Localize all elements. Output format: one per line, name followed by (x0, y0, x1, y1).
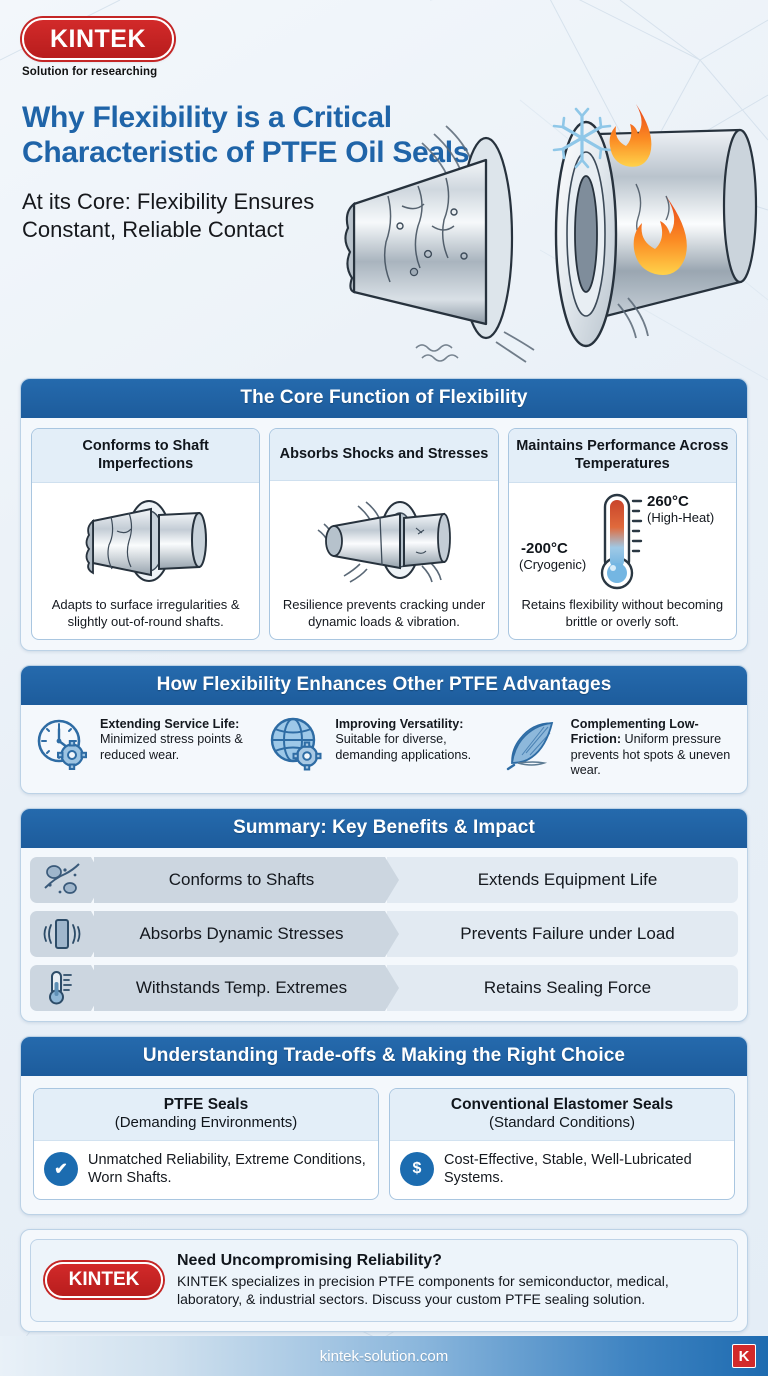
summary-section: Summary: Key Benefits & Impact Conforms … (20, 808, 748, 1022)
summary-impact: Prevents Failure under Load (387, 911, 738, 957)
infographic-page: KINTEK Solution for researching Why Flex… (0, 0, 768, 1376)
advantage-body: Suitable for diverse, demanding applicat… (335, 732, 471, 761)
hero-shaft-seal-illustration (336, 86, 766, 386)
advantage-text: Complementing Low-Friction: Uniform pres… (571, 715, 735, 779)
advantage-lead: Improving Versatility: (335, 717, 463, 731)
vibration-damper-icon (30, 911, 104, 957)
core-function-section: The Core Function of Flexibility Conform… (20, 378, 748, 651)
tradeoffs-heading: Understanding Trade-offs & Making the Ri… (21, 1037, 747, 1076)
advantages-section: How Flexibility Enhances Other PTFE Adva… (20, 665, 748, 794)
core-card: Maintains Performance Across Temperature… (508, 428, 737, 640)
tradeoff-description: Unmatched Reliability, Extreme Condition… (88, 1151, 368, 1187)
summary-benefit: Absorbs Dynamic Stresses (94, 911, 399, 957)
summary-impact: Extends Equipment Life (387, 857, 738, 903)
clock-gear-icon (33, 715, 93, 775)
advantage-item: Extending Service Life: Minimized stress… (33, 715, 264, 779)
core-function-heading: The Core Function of Flexibility (21, 379, 747, 418)
logo-tagline: Solution for researching (22, 66, 192, 78)
tradeoff-title: PTFE Seals (40, 1096, 372, 1114)
cta-section: KINTEK Need Uncompromising Reliability? … (20, 1229, 748, 1331)
tradeoff-description: Cost-Effective, Stable, Well-Lubricated … (444, 1151, 724, 1187)
tradeoff-subtitle: (Demanding Environments) (40, 1114, 372, 1132)
advantage-item: Improving Versatility: Suitable for dive… (268, 715, 499, 779)
core-card-title: Absorbs Shocks and Stresses (270, 429, 497, 481)
check-icon: ✔ (44, 1152, 78, 1186)
tradeoff-card-ptfe: PTFE Seals (Demanding Environments) ✔ Un… (33, 1088, 379, 1200)
summary-impact: Retains Sealing Force (387, 965, 738, 1011)
page-subtitle: At its Core: Flexibility Ensures Constan… (22, 188, 352, 243)
vibrating-shaft-seal-icon (270, 481, 497, 595)
thermometer-icon: 260°C (High-Heat) -200°C (Cryogenic) (509, 483, 736, 595)
tradeoff-card-header: PTFE Seals (Demanding Environments) (34, 1089, 378, 1141)
core-card: Conforms to Shaft Imperfections (31, 428, 260, 640)
summary-benefit: Conforms to Shafts (94, 857, 399, 903)
temp-low-note: (Cryogenic) (519, 557, 586, 572)
page-header: KINTEK Solution for researching Why Flex… (0, 0, 768, 378)
advantage-text: Improving Versatility: Suitable for dive… (335, 715, 499, 763)
advantage-lead: Extending Service Life: (100, 717, 239, 731)
temp-low-value: -200°C (521, 540, 568, 557)
summary-row: Withstands Temp. Extremes Retains Sealin… (30, 965, 738, 1011)
tradeoff-title: Conventional Elastomer Seals (396, 1096, 728, 1114)
globe-gear-icon (268, 715, 328, 775)
cta-brand-logo: KINTEK (45, 1262, 163, 1298)
logo-pill: KINTEK (22, 18, 174, 60)
temp-high-value: 260°C (647, 493, 689, 510)
core-card-title: Conforms to Shaft Imperfections (32, 429, 259, 483)
core-card-title: Maintains Performance Across Temperature… (509, 429, 736, 483)
logo-text: KINTEK (50, 25, 146, 54)
summary-heading: Summary: Key Benefits & Impact (21, 809, 747, 848)
footer-url[interactable]: kintek-solution.com (320, 1348, 448, 1365)
rough-surface-icon (30, 857, 104, 903)
core-card-caption: Resilience prevents cracking under dynam… (270, 595, 497, 639)
cta-title: Need Uncompromising Reliability? (177, 1252, 723, 1270)
worn-shaft-seal-icon (32, 483, 259, 595)
feather-icon (504, 715, 564, 775)
cta-body: KINTEK specializes in precision PTFE com… (177, 1272, 723, 1308)
dollar-icon: $ (400, 1152, 434, 1186)
advantage-item: Complementing Low-Friction: Uniform pres… (504, 715, 735, 779)
tradeoff-subtitle: (Standard Conditions) (396, 1114, 728, 1132)
core-card: Absorbs Shocks and Stresses (269, 428, 498, 640)
footer-brand-mark: K (732, 1344, 756, 1368)
summary-row: Conforms to Shafts Extends Equipment Lif… (30, 857, 738, 903)
tradeoff-card-header: Conventional Elastomer Seals (Standard C… (390, 1089, 734, 1141)
thermometer-small-icon (30, 965, 104, 1011)
advantages-heading: How Flexibility Enhances Other PTFE Adva… (21, 666, 747, 705)
tradeoffs-section: Understanding Trade-offs & Making the Ri… (20, 1036, 748, 1215)
brand-logo: KINTEK Solution for researching (22, 18, 192, 78)
tradeoff-card-elastomer: Conventional Elastomer Seals (Standard C… (389, 1088, 735, 1200)
summary-row: Absorbs Dynamic Stresses Prevents Failur… (30, 911, 738, 957)
temp-high-note: (High-Heat) (647, 510, 714, 525)
page-footer: kintek-solution.com K (0, 1336, 768, 1376)
advantage-body: Minimized stress points & reduced wear. (100, 732, 243, 761)
summary-benefit: Withstands Temp. Extremes (94, 965, 399, 1011)
core-card-caption: Retains flexibility without becoming bri… (509, 595, 736, 639)
advantage-text: Extending Service Life: Minimized stress… (100, 715, 264, 763)
core-card-caption: Adapts to surface irregularities & sligh… (32, 595, 259, 639)
